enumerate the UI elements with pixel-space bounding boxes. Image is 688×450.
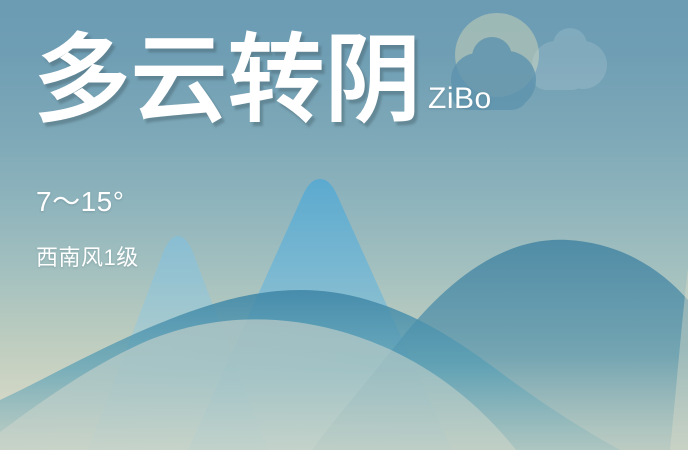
hill-front bbox=[0, 319, 516, 450]
condition-row: 多云转阴 ZiBo bbox=[34, 30, 492, 132]
wind-info: 西南风1级 bbox=[36, 240, 139, 272]
city-label: ZiBo bbox=[428, 82, 492, 116]
page-title: 多云转阴 bbox=[34, 30, 422, 132]
temperature-range: 7～15° bbox=[36, 180, 124, 220]
hill-edge-right bbox=[670, 268, 688, 450]
weather-card: 多云转阴 ZiBo 7～15° 西南风1级 bbox=[0, 0, 688, 450]
